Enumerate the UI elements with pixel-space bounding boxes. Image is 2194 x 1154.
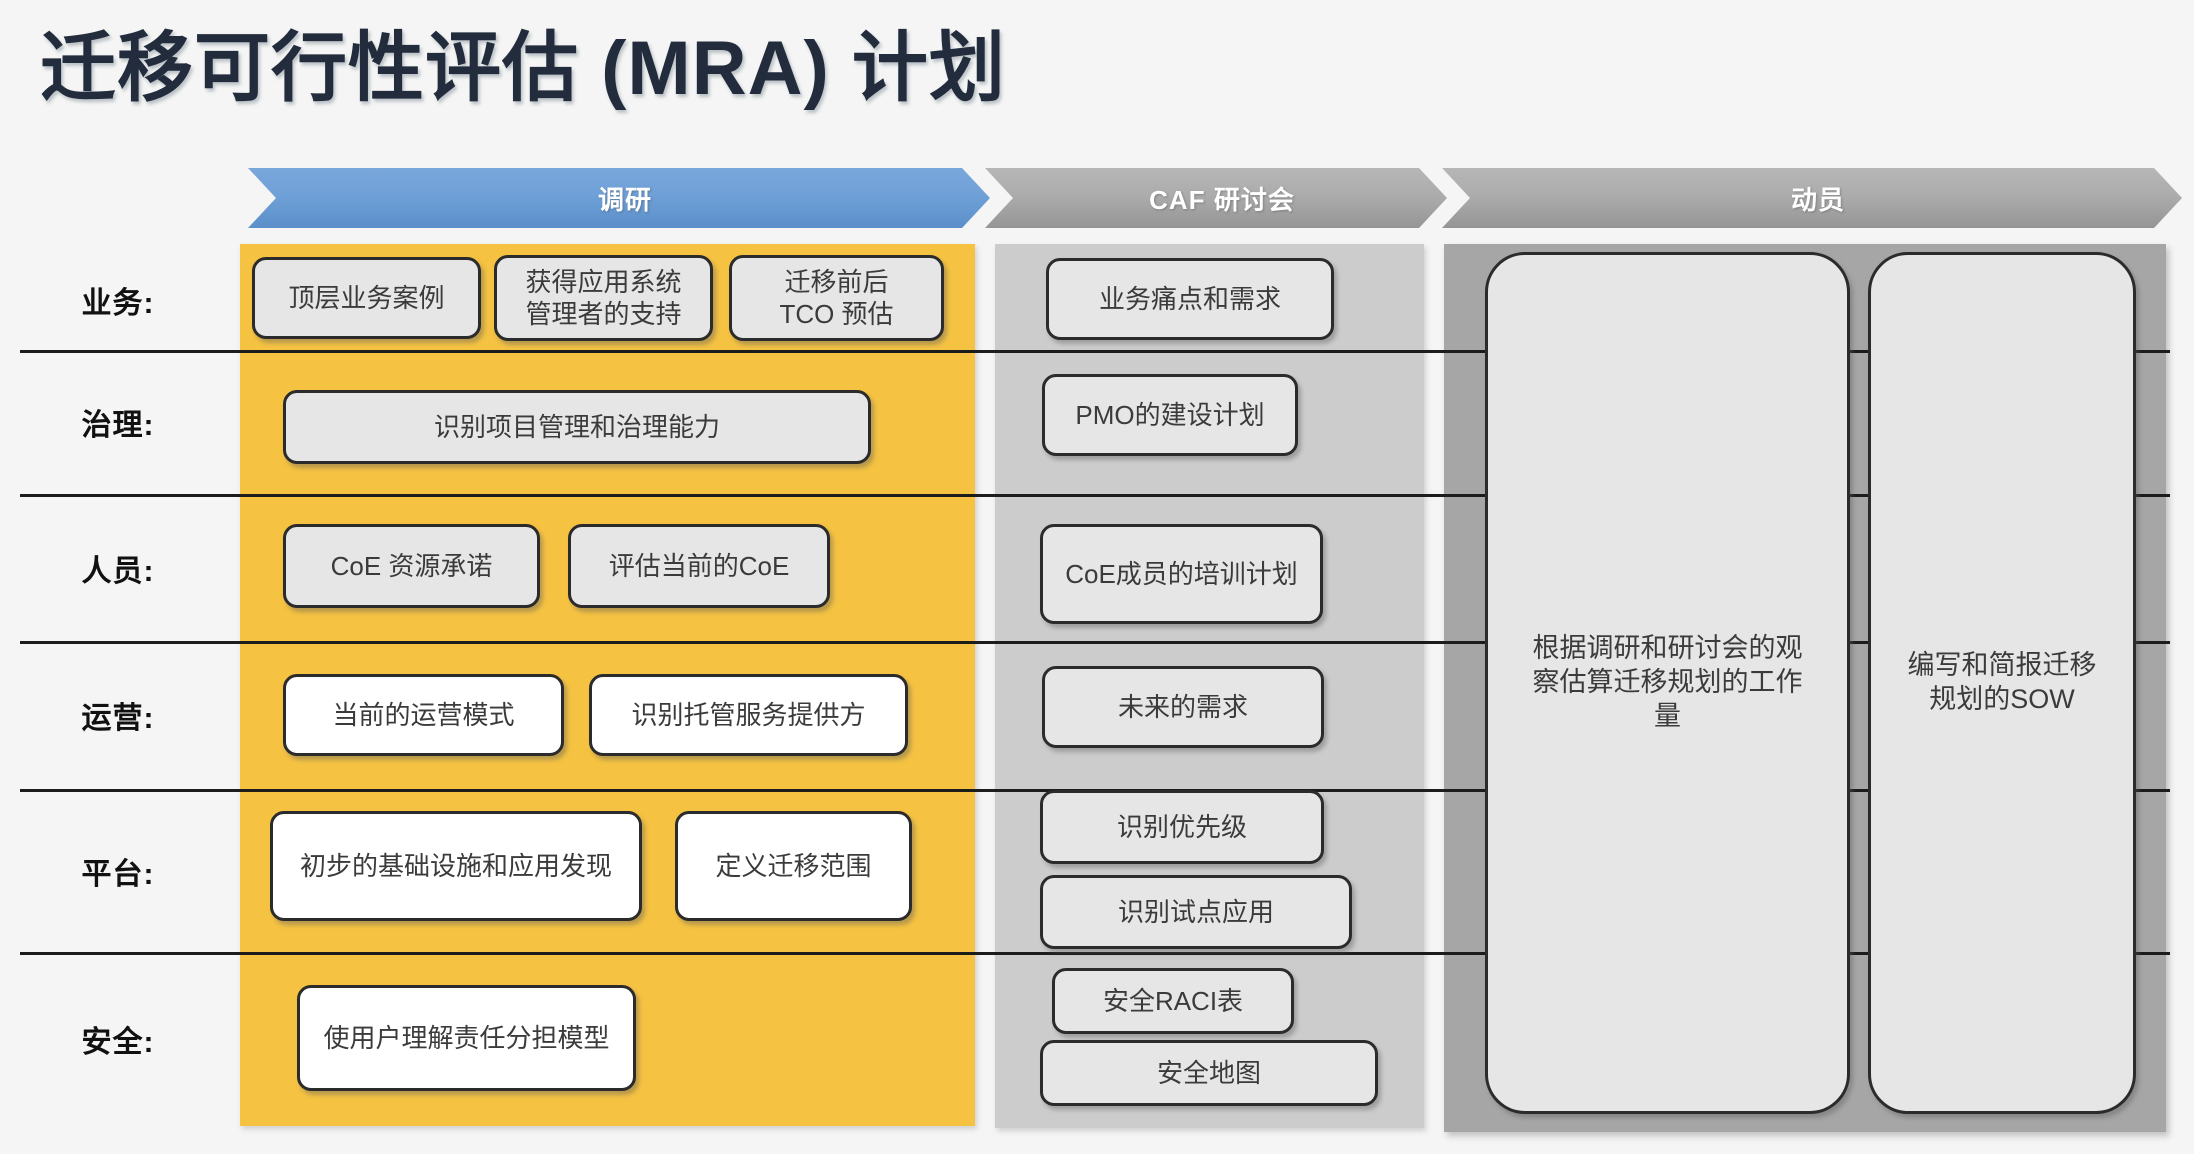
task-card[interactable]: 使用户理解责任分担模型 <box>297 985 636 1091</box>
task-card[interactable]: 顶层业务案例 <box>252 257 481 339</box>
task-card[interactable]: 识别项目管理和治理能力 <box>283 390 871 464</box>
page-title: 迁移可行性评估 (MRA) 计划 <box>40 6 1006 116</box>
slide-canvas: 迁移可行性评估 (MRA) 计划 调研 CAF 研讨会 动员 业务: 治理: 人… <box>0 0 2194 1154</box>
task-card[interactable]: CoE 资源承诺 <box>283 524 540 608</box>
row-label-platform: 平台: <box>0 789 236 952</box>
task-card[interactable]: 获得应用系统 管理者的支持 <box>494 255 713 341</box>
task-card[interactable]: 安全RACI表 <box>1052 968 1294 1034</box>
task-card[interactable]: PMO的建设计划 <box>1042 374 1298 456</box>
task-card[interactable]: 定义迁移范围 <box>675 811 912 921</box>
task-card[interactable]: 未来的需求 <box>1042 666 1324 748</box>
row-label-security: 安全: <box>0 952 236 1126</box>
task-card[interactable]: 识别优先级 <box>1040 790 1324 864</box>
task-card[interactable]: 识别托管服务提供方 <box>589 674 908 756</box>
phase-chevron-survey[interactable]: 调研 <box>248 168 990 228</box>
task-card[interactable]: 安全地图 <box>1040 1040 1378 1106</box>
phase-chevron-label: CAF 研讨会 <box>1149 180 1295 217</box>
row-label-business: 业务: <box>0 250 236 350</box>
task-card[interactable]: 当前的运营模式 <box>283 674 564 756</box>
task-card[interactable]: 编写和简报迁移规划的SOW <box>1868 252 2136 1114</box>
phase-chevron-label: 调研 <box>598 180 652 217</box>
task-card[interactable]: 迁移前后 TCO 预估 <box>729 255 944 341</box>
task-card[interactable]: 评估当前的CoE <box>568 524 830 608</box>
row-label-governance: 治理: <box>0 350 236 494</box>
phase-chevron-workshop[interactable]: CAF 研讨会 <box>985 168 1447 228</box>
task-card[interactable]: CoE成员的培训计划 <box>1040 524 1323 624</box>
task-card[interactable]: 根据调研和研讨会的观察估算迁移规划的工作量 <box>1485 252 1850 1114</box>
row-label-operations: 运营: <box>0 641 236 789</box>
row-label-people: 人员: <box>0 494 236 641</box>
task-card[interactable]: 识别试点应用 <box>1040 875 1352 949</box>
phase-chevron-label: 动员 <box>1791 180 1845 217</box>
task-card[interactable]: 业务痛点和需求 <box>1046 258 1334 340</box>
task-card[interactable]: 初步的基础设施和应用发现 <box>270 811 642 921</box>
phase-chevron-mobilize[interactable]: 动员 <box>1442 168 2182 228</box>
